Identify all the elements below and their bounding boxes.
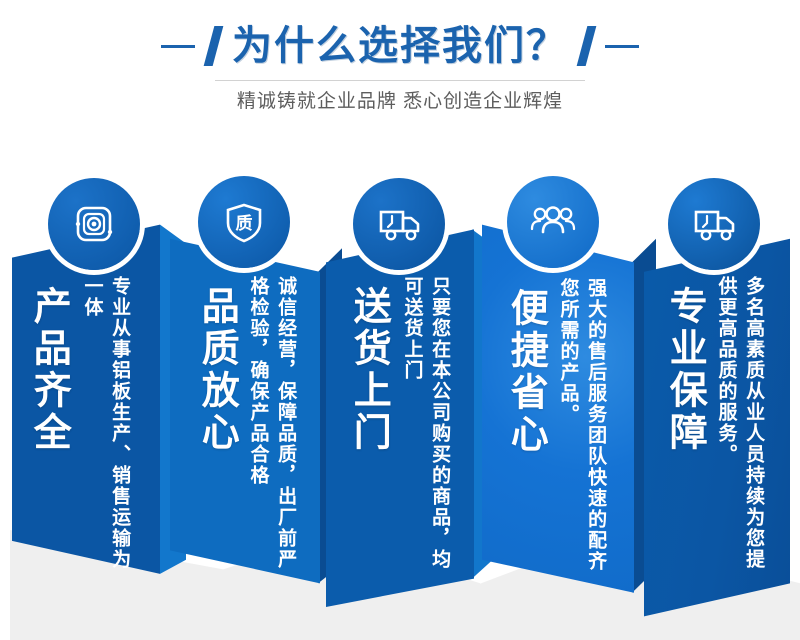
panel-2-title: 品质放心 bbox=[196, 286, 236, 454]
panel-4-title: 便捷省心 bbox=[505, 288, 545, 456]
team-people-icon bbox=[527, 196, 579, 248]
panel-5-title: 专业保障 bbox=[664, 286, 704, 454]
subtitle-divider bbox=[215, 80, 585, 81]
delivery-truck-icon bbox=[373, 198, 425, 250]
panel-5-body: 多名高素质从业人员持续为您提供更高品质的服务。 bbox=[712, 276, 767, 576]
decor-slash-left bbox=[204, 26, 224, 66]
decor-rule-left bbox=[161, 45, 195, 48]
panel-3-body: 只要您在本公司购买的商品，均可送货上门 bbox=[398, 276, 453, 576]
panel-1-icon-wrap bbox=[48, 178, 140, 270]
page-title: 为什么选择我们？ bbox=[232, 26, 568, 66]
panel-4-icon-wrap bbox=[507, 176, 599, 268]
decor-slash-right bbox=[577, 26, 597, 66]
panel-2-body: 诚信经营，保障品质，出厂前严格检验，确保产品合格 bbox=[244, 276, 299, 576]
shield-char: 质 bbox=[236, 214, 253, 233]
panel-3-icon-wrap bbox=[353, 178, 445, 270]
panel-3-title: 送货上门 bbox=[348, 286, 388, 454]
vault-icon bbox=[69, 199, 119, 249]
promo-banner: 为什么选择我们？ 精诚铸就企业品牌 悉心创造企业辉煌 bbox=[0, 0, 800, 640]
panel-4-body: 强大的售后服务团队快速的配齐您所需的产品。 bbox=[554, 278, 609, 578]
title-row: 为什么选择我们？ bbox=[0, 18, 800, 74]
panel-1-body: 专业从事铝板生产、销售运输为一体 bbox=[78, 276, 133, 576]
panel-2-icon-wrap: 质 bbox=[198, 176, 290, 268]
panel-1-title: 产品齐全 bbox=[28, 286, 68, 454]
header: 为什么选择我们？ 精诚铸就企业品牌 悉心创造企业辉煌 bbox=[0, 0, 800, 130]
shield-quality-icon: 质 bbox=[219, 197, 269, 247]
delivery-truck-icon bbox=[688, 198, 740, 250]
decor-rule-right bbox=[605, 45, 639, 48]
panel-5-icon-wrap bbox=[668, 178, 760, 270]
page-subtitle: 精诚铸就企业品牌 悉心创造企业辉煌 bbox=[0, 86, 800, 113]
feature-panel-group: 产品齐全 专业从事铝板生产、销售运输为一体 质 品质放心 诚信经营，保障品质，出… bbox=[0, 168, 800, 640]
